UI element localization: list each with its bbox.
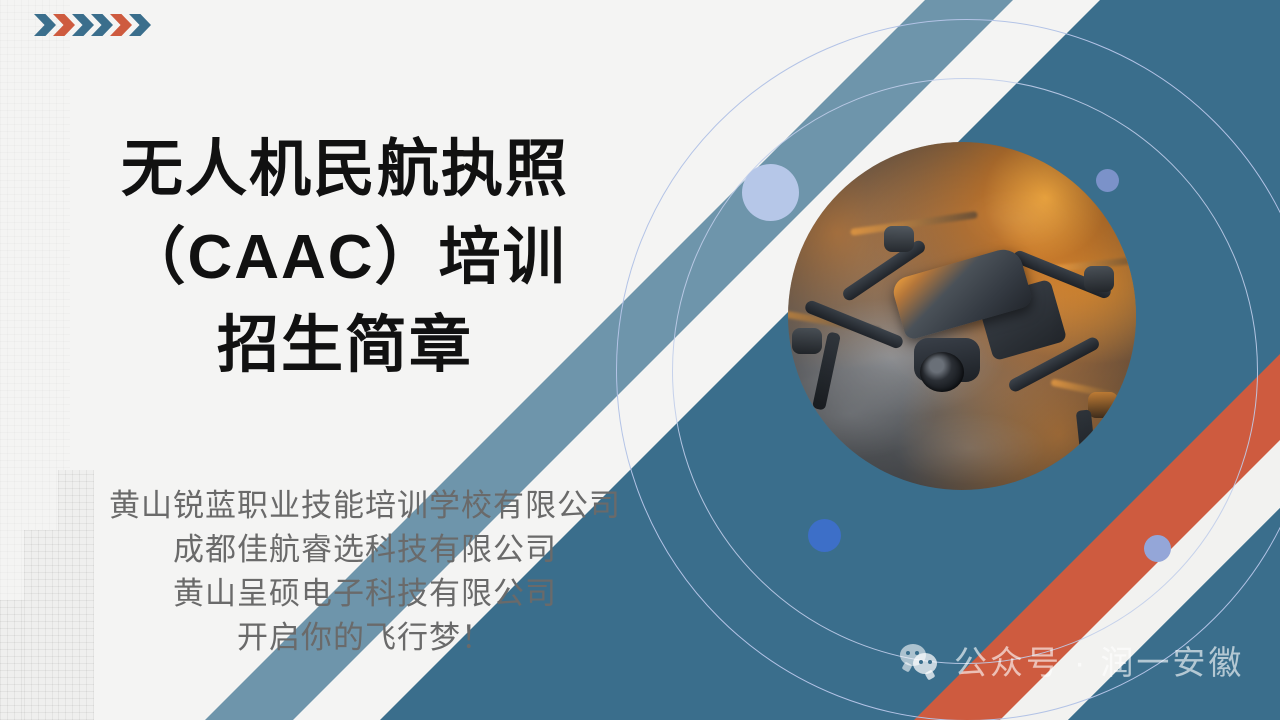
title-line-1: 无人机民航执照 xyxy=(0,126,690,214)
photo-vignette xyxy=(788,142,1136,490)
decor-dot-accent-blue xyxy=(808,519,841,552)
chevron-logo xyxy=(34,14,148,36)
drone-photo xyxy=(788,142,1136,490)
decor-dot-large-light xyxy=(742,164,799,221)
subtitle-line-3: 黄山呈硕电子科技有限公司 xyxy=(0,572,730,616)
wechat-eye-4 xyxy=(928,660,932,664)
subtitle-line-1: 黄山锐蓝职业技能培训学校有限公司 xyxy=(0,484,730,528)
wechat-eye-2 xyxy=(915,651,919,655)
wechat-eye-3 xyxy=(919,660,923,664)
page-title: 无人机民航执照 （CAAC）培训 招生简章 xyxy=(0,126,690,390)
watermark-text: 公众号 · 润一安徽 xyxy=(954,636,1244,684)
chevron-4 xyxy=(91,14,113,36)
chevron-1 xyxy=(34,14,56,36)
chevron-6 xyxy=(129,14,151,36)
wechat-icon xyxy=(900,644,942,676)
wechat-bubble-small xyxy=(913,653,937,674)
watermark: 公众号 · 润一安徽 xyxy=(900,636,1244,684)
chevron-3 xyxy=(72,14,94,36)
wechat-eye-1 xyxy=(906,651,910,655)
presentation-slide: 无人机民航执照 （CAAC）培训 招生简章 黄山锐蓝职业技能培训学校有限公司 成… xyxy=(0,0,1280,720)
subtitle-line-2: 成都佳航睿选科技有限公司 xyxy=(0,528,730,572)
title-line-3: 招生简章 xyxy=(0,302,690,390)
subtitle-block: 黄山锐蓝职业技能培训学校有限公司 成都佳航睿选科技有限公司 黄山呈硕电子科技有限… xyxy=(0,484,730,660)
decor-dot-periwinkle xyxy=(1144,535,1171,562)
chevron-2 xyxy=(53,14,75,36)
decor-dot-small-mid xyxy=(1096,169,1119,192)
title-line-2: （CAAC）培训 xyxy=(0,214,690,302)
subtitle-line-4: 开启你的飞行梦！ xyxy=(0,616,730,660)
chevron-5 xyxy=(110,14,132,36)
